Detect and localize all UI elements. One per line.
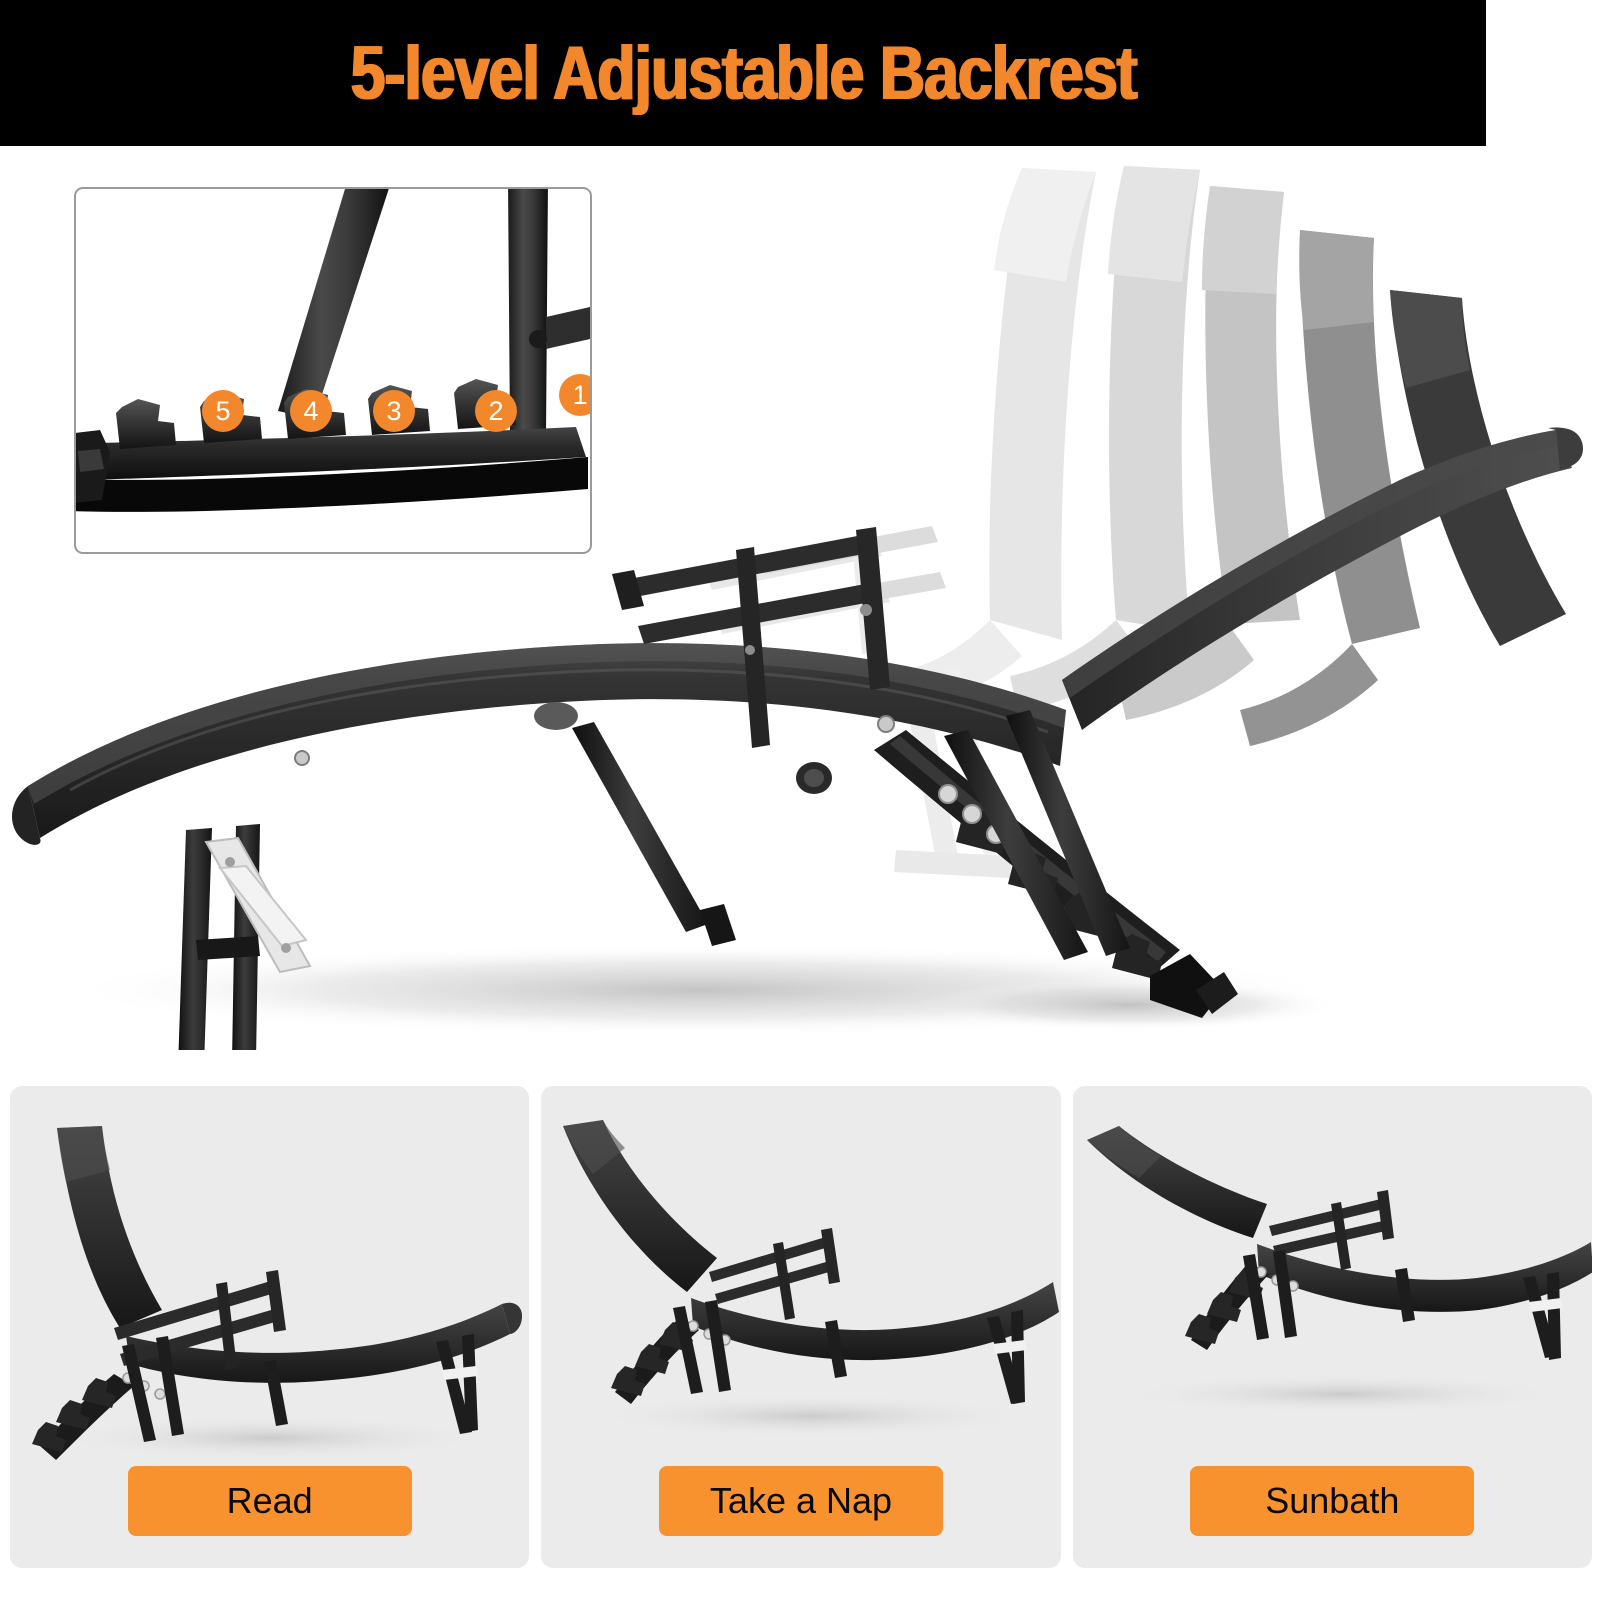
card-label-sunbath: Sunbath <box>1190 1466 1474 1536</box>
usage-scenario-cards: Read <box>10 1086 1592 1568</box>
infographic-page: 5-level Adjustable Backrest <box>0 0 1600 1600</box>
card-label-take-a-nap: Take a Nap <box>659 1466 943 1536</box>
card-read[interactable]: Read <box>10 1086 529 1568</box>
card-sunbath[interactable]: Sunbath <box>1073 1086 1592 1568</box>
chaise-lounge-fan-illustration <box>0 150 1600 1050</box>
card-label-read: Read <box>128 1466 412 1536</box>
header-banner: 5-level Adjustable Backrest <box>0 0 1486 146</box>
hero-product-image <box>0 150 1600 1050</box>
lounger-upright-backrest-illustration <box>10 1086 529 1486</box>
page-title: 5-level Adjustable Backrest <box>350 30 1136 117</box>
front-support-bar <box>572 722 736 946</box>
card-take-a-nap[interactable]: Take a Nap <box>541 1086 1060 1568</box>
lounger-flat-recline-illustration <box>1073 1086 1592 1486</box>
lounger-mid-recline-illustration <box>541 1086 1060 1486</box>
